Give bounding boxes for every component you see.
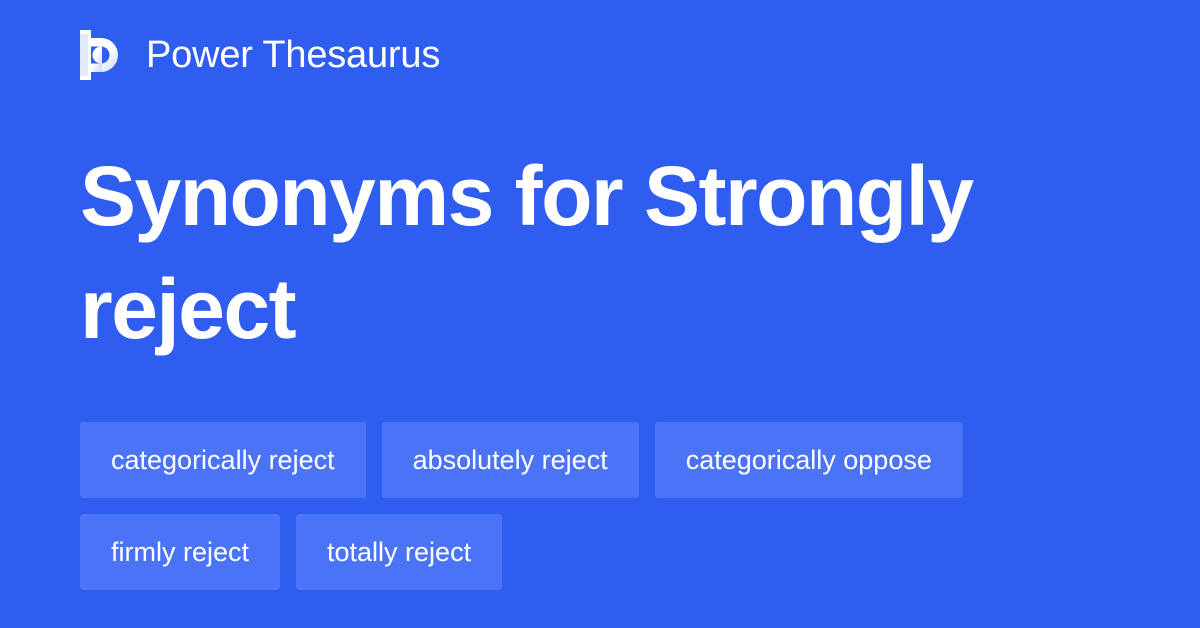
synonym-chip[interactable]: categorically oppose (655, 422, 963, 498)
brand-name: Power Thesaurus (146, 36, 440, 74)
power-thesaurus-b-logo-icon (80, 30, 124, 80)
synonym-chip[interactable]: totally reject (296, 514, 502, 590)
synonym-chip[interactable]: firmly reject (80, 514, 280, 590)
page-title: Synonyms for Strongly reject (80, 140, 1030, 365)
synonym-chip-list: categorically reject absolutely reject c… (80, 422, 1120, 590)
synonym-chip[interactable]: absolutely reject (382, 422, 639, 498)
share-card: Power Thesaurus Synonyms for Strongly re… (0, 0, 1200, 628)
synonym-chip[interactable]: categorically reject (80, 422, 366, 498)
brand-header[interactable]: Power Thesaurus (80, 30, 440, 80)
